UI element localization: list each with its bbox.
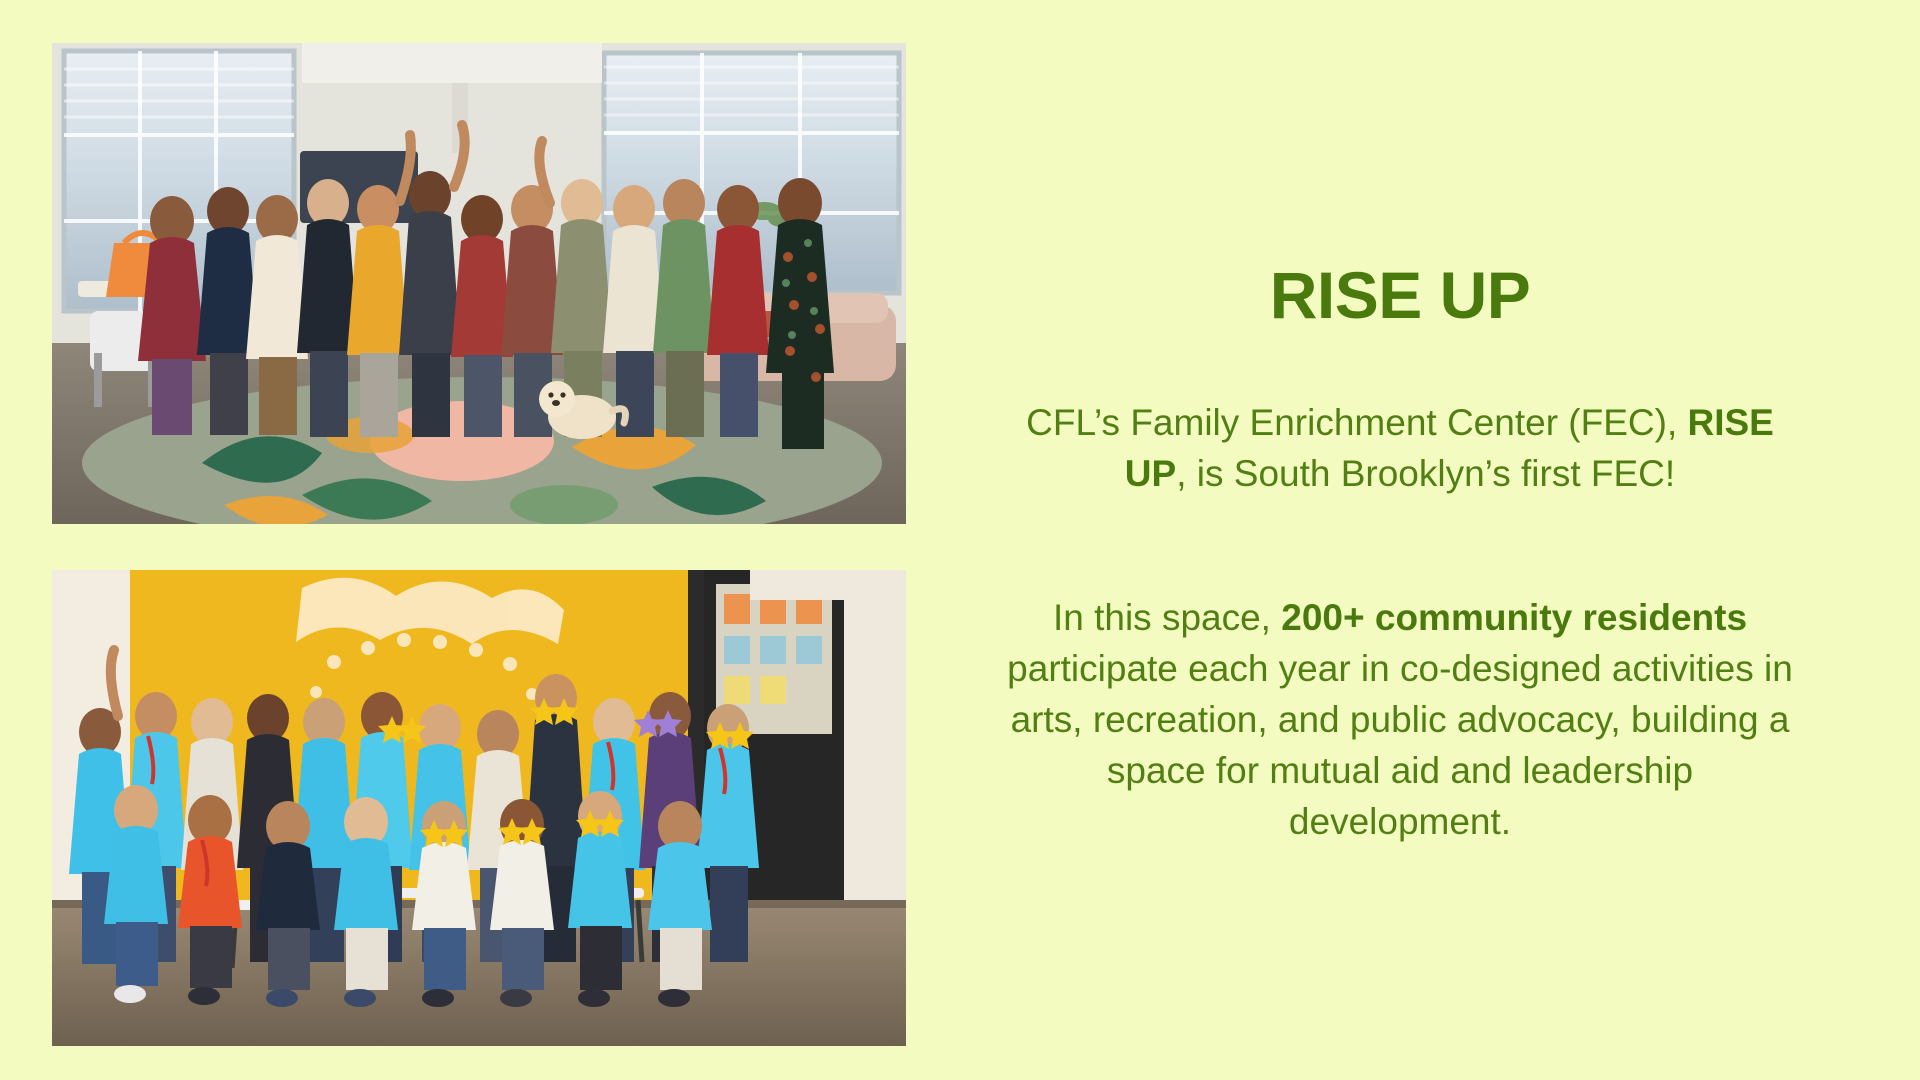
emphasis-text: 200+ community residents [1281, 597, 1747, 638]
text-column: RISE UP CFL’s Family Enrichment Center (… [960, 0, 1840, 1080]
photo-top-artwork [52, 43, 906, 524]
body-text: , is South Brooklyn’s first FEC! [1176, 453, 1675, 494]
body-text: CFL’s Family Enrichment Center (FEC), [1026, 402, 1687, 443]
paragraph-intro: CFL’s Family Enrichment Center (FEC), RI… [995, 397, 1805, 499]
photo-top [52, 43, 906, 524]
paragraph-description: In this space, 200+ community residents … [995, 592, 1805, 847]
slide-root: RISE UP CFL’s Family Enrichment Center (… [0, 0, 1920, 1080]
body-text: In this space, [1053, 597, 1281, 638]
body-text: participate each year in co-designed act… [1007, 648, 1793, 842]
photo-column [52, 43, 906, 1046]
photo-bottom-artwork [52, 570, 906, 1046]
photo-bottom [52, 570, 906, 1046]
page-title: RISE UP [960, 262, 1840, 328]
